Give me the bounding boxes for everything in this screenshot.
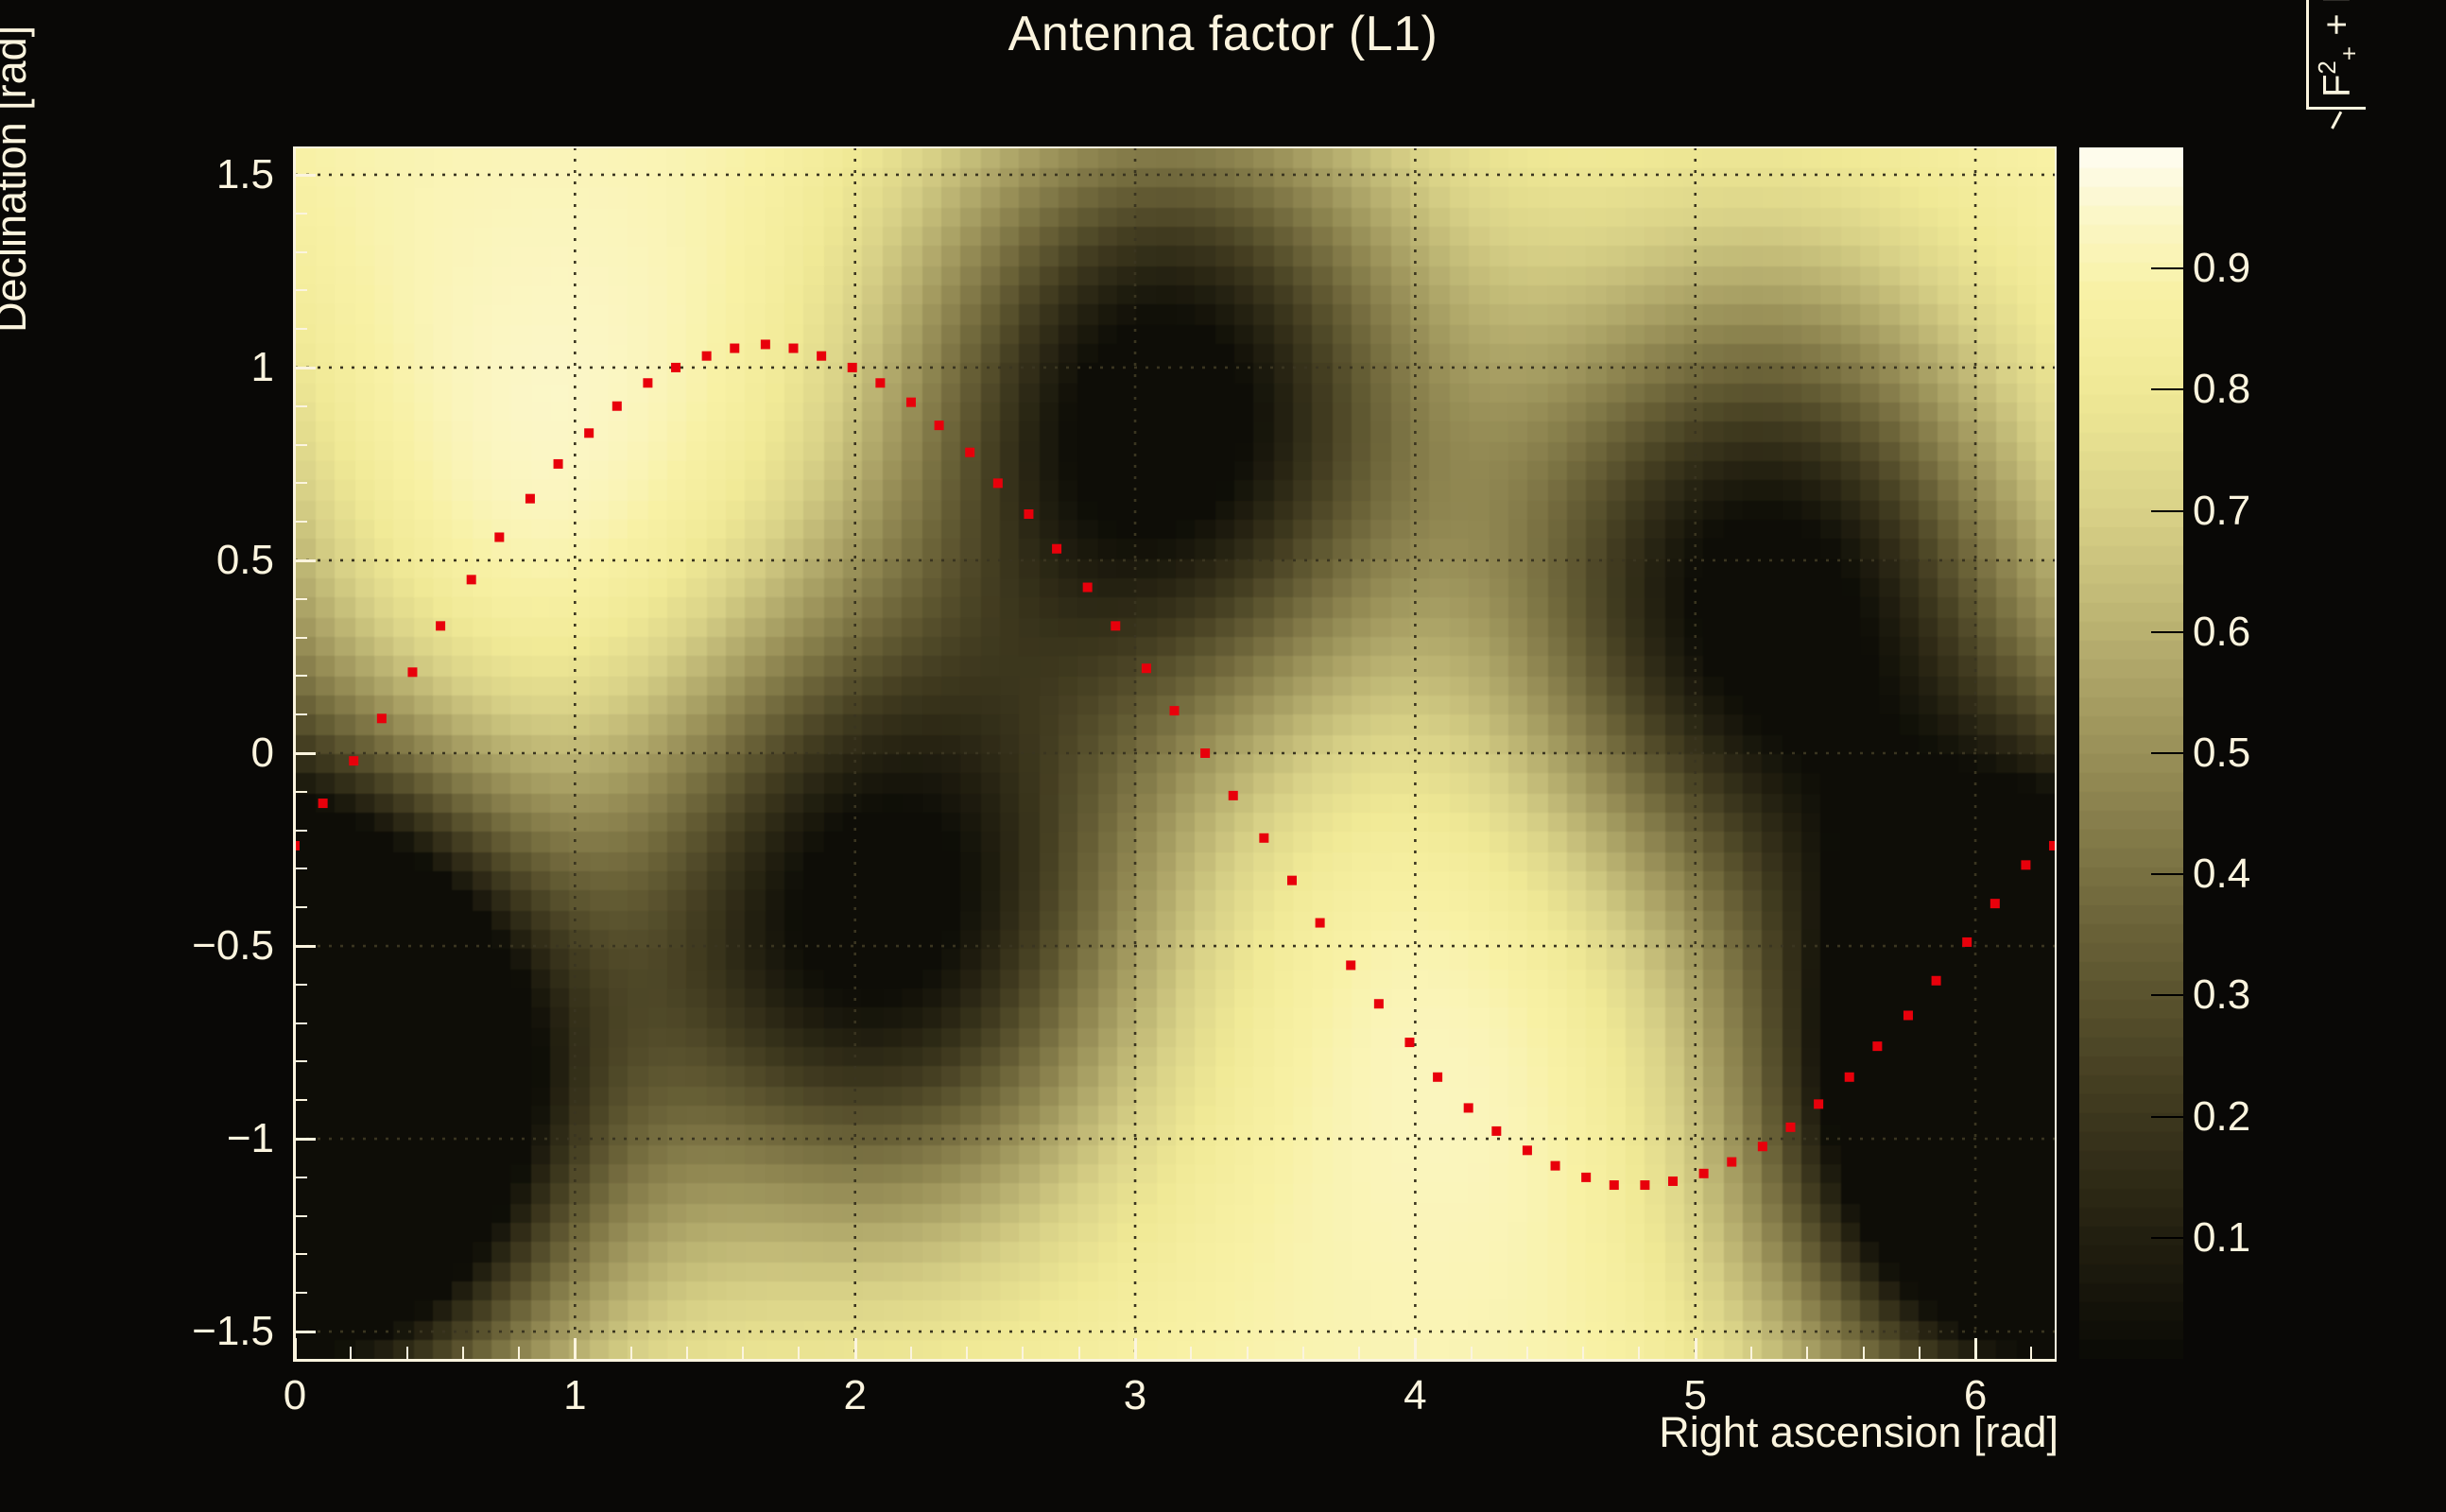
x-axis-minor-tick bbox=[966, 1347, 968, 1359]
colorbar-tick bbox=[2151, 388, 2183, 390]
y-axis-minor-tick bbox=[295, 1177, 307, 1178]
x-axis-line bbox=[293, 1359, 2057, 1362]
x-axis-minor-tick bbox=[1750, 1347, 1752, 1359]
x-axis-tick-label: 3 bbox=[1124, 1372, 1146, 1419]
colorbar-tick-label: 0.3 bbox=[2193, 971, 2250, 1019]
y-axis-tick-label: 1 bbox=[251, 344, 274, 391]
x-axis-minor-tick bbox=[798, 1347, 800, 1359]
top-frame-line bbox=[293, 146, 2057, 148]
x-axis-major-tick bbox=[1134, 1338, 1137, 1359]
y-axis-major-tick bbox=[295, 945, 316, 948]
x-axis-minor-tick bbox=[1358, 1347, 1360, 1359]
colorbar-ticks: 0.90.80.70.60.50.40.30.20.1 bbox=[2079, 147, 2183, 1359]
x-axis-minor-tick bbox=[518, 1347, 520, 1359]
y-axis-minor-tick bbox=[295, 791, 307, 793]
y-axis-minor-tick bbox=[295, 906, 307, 908]
y-axis-minor-tick bbox=[295, 289, 307, 291]
x-axis-minor-tick bbox=[1471, 1347, 1473, 1359]
y-axis-minor-tick bbox=[295, 598, 307, 600]
y-axis-minor-tick bbox=[295, 637, 307, 639]
y-axis-minor-tick bbox=[295, 1215, 307, 1217]
x-axis-tick-label: 4 bbox=[1404, 1372, 1426, 1419]
y-axis-minor-tick bbox=[295, 444, 307, 446]
y-axis-minor-tick bbox=[295, 1292, 307, 1294]
colorbar-tick-label: 0.4 bbox=[2193, 850, 2250, 898]
x-axis-minor-tick bbox=[2030, 1347, 2032, 1359]
y-axis-minor-tick bbox=[295, 405, 307, 407]
y-axis-major-tick bbox=[295, 559, 316, 562]
colorbar-tick bbox=[2151, 873, 2183, 875]
colorbar-tick bbox=[2151, 752, 2183, 754]
x-axis-tick-label: 1 bbox=[563, 1372, 586, 1419]
y-axis-tick-label: −0.5 bbox=[192, 922, 274, 970]
colorbar-tick-label: 0.2 bbox=[2193, 1093, 2250, 1141]
y-axis-minor-tick bbox=[295, 1060, 307, 1062]
y-axis-minor-tick bbox=[295, 713, 307, 715]
colorbar-tick-label: 0.8 bbox=[2193, 366, 2250, 413]
y-axis-minor-tick bbox=[295, 830, 307, 832]
x-axis-minor-tick bbox=[350, 1347, 352, 1359]
y-axis-minor-tick bbox=[295, 328, 307, 330]
y-axis-major-tick bbox=[295, 367, 316, 369]
y-axis-minor-tick bbox=[295, 868, 307, 869]
sqrt-tick-icon bbox=[2331, 112, 2342, 129]
y-axis-minor-tick bbox=[295, 482, 307, 484]
y-axis-major-tick bbox=[295, 1331, 316, 1333]
x-axis-minor-tick bbox=[406, 1347, 408, 1359]
x-axis-minor-tick bbox=[1078, 1347, 1080, 1359]
colorbar-title-radicand: F2+ + F2x bbox=[2306, 0, 2366, 110]
x-axis-major-tick bbox=[1974, 1338, 1977, 1359]
x-axis-title: Right ascension [rad] bbox=[1659, 1408, 2058, 1457]
y-axis-minor-tick bbox=[295, 521, 307, 523]
y-axis-minor-tick bbox=[295, 251, 307, 253]
y-axis-minor-tick bbox=[295, 1022, 307, 1024]
x-axis-major-tick bbox=[1695, 1338, 1697, 1359]
x-axis-minor-tick bbox=[1919, 1347, 1921, 1359]
x-axis-minor-tick bbox=[1582, 1347, 1584, 1359]
colorbar-tick-label: 0.7 bbox=[2193, 488, 2250, 535]
x-axis-minor-tick bbox=[462, 1347, 464, 1359]
sqrt-symbol: F2+ + F2x bbox=[2306, 0, 2366, 113]
x-axis-minor-tick bbox=[1526, 1347, 1528, 1359]
y-axis-minor-tick bbox=[295, 675, 307, 677]
y-axis-tick-label: 0 bbox=[251, 730, 274, 777]
x-axis-major-tick bbox=[854, 1338, 857, 1359]
x-axis-minor-tick bbox=[1247, 1347, 1249, 1359]
y-axis-major-tick bbox=[295, 752, 316, 755]
colorbar-tick bbox=[2151, 267, 2183, 269]
y-axis-tick-label: 1.5 bbox=[216, 151, 274, 198]
y-axis-minor-tick bbox=[295, 1253, 307, 1255]
x-axis-major-tick bbox=[294, 1338, 297, 1359]
colorbar-tick bbox=[2151, 994, 2183, 996]
x-axis-minor-tick bbox=[1022, 1347, 1024, 1359]
colorbar-tick-label: 0.6 bbox=[2193, 609, 2250, 656]
x-axis-major-tick bbox=[574, 1338, 577, 1359]
x-axis-minor-tick bbox=[1190, 1347, 1192, 1359]
heatmap-canvas bbox=[295, 147, 2055, 1359]
y-axis-minor-tick bbox=[295, 213, 307, 215]
x-axis-minor-tick bbox=[910, 1347, 912, 1359]
x-axis-major-tick bbox=[1414, 1338, 1417, 1359]
x-axis-minor-tick bbox=[630, 1347, 632, 1359]
x-axis-minor-tick bbox=[1806, 1347, 1808, 1359]
x-axis-minor-tick bbox=[1302, 1347, 1304, 1359]
colorbar-tick bbox=[2151, 510, 2183, 512]
y-axis-title: Declination [rad] bbox=[0, 26, 36, 333]
x-axis-tick-label: 0 bbox=[284, 1372, 306, 1419]
colorbar-tick bbox=[2151, 1116, 2183, 1118]
y-axis-major-tick bbox=[295, 174, 316, 177]
plot-area bbox=[295, 147, 2055, 1359]
colorbar-tick-label: 0.9 bbox=[2193, 245, 2250, 292]
colorbar-tick-label: 0.5 bbox=[2193, 730, 2250, 777]
x-axis-minor-tick bbox=[686, 1347, 688, 1359]
y-axis-tick-label: −1.5 bbox=[192, 1308, 274, 1355]
x-axis-tick-label: 2 bbox=[843, 1372, 866, 1419]
page-title: Antenna factor (L1) bbox=[0, 6, 2446, 62]
y-axis-minor-tick bbox=[295, 984, 307, 986]
y-axis-major-tick bbox=[295, 1138, 316, 1141]
colorbar-title: F2+ + F2x bbox=[2306, 0, 2366, 113]
x-axis-minor-tick bbox=[1863, 1347, 1865, 1359]
colorbar: 0.90.80.70.60.50.40.30.20.1 bbox=[2079, 147, 2183, 1359]
y-axis-minor-tick bbox=[295, 1099, 307, 1101]
y-axis-tick-label: 0.5 bbox=[216, 537, 274, 584]
plot-root: Antenna factor (L1) 1.510.50−0.5−1−1.501… bbox=[0, 0, 2446, 1512]
colorbar-tick bbox=[2151, 1237, 2183, 1239]
x-axis-minor-tick bbox=[1638, 1347, 1640, 1359]
colorbar-tick bbox=[2151, 631, 2183, 633]
colorbar-tick-label: 0.1 bbox=[2193, 1214, 2250, 1262]
x-axis-minor-tick bbox=[742, 1347, 744, 1359]
right-frame-line bbox=[2055, 147, 2057, 1362]
y-axis-tick-label: −1 bbox=[227, 1115, 274, 1162]
